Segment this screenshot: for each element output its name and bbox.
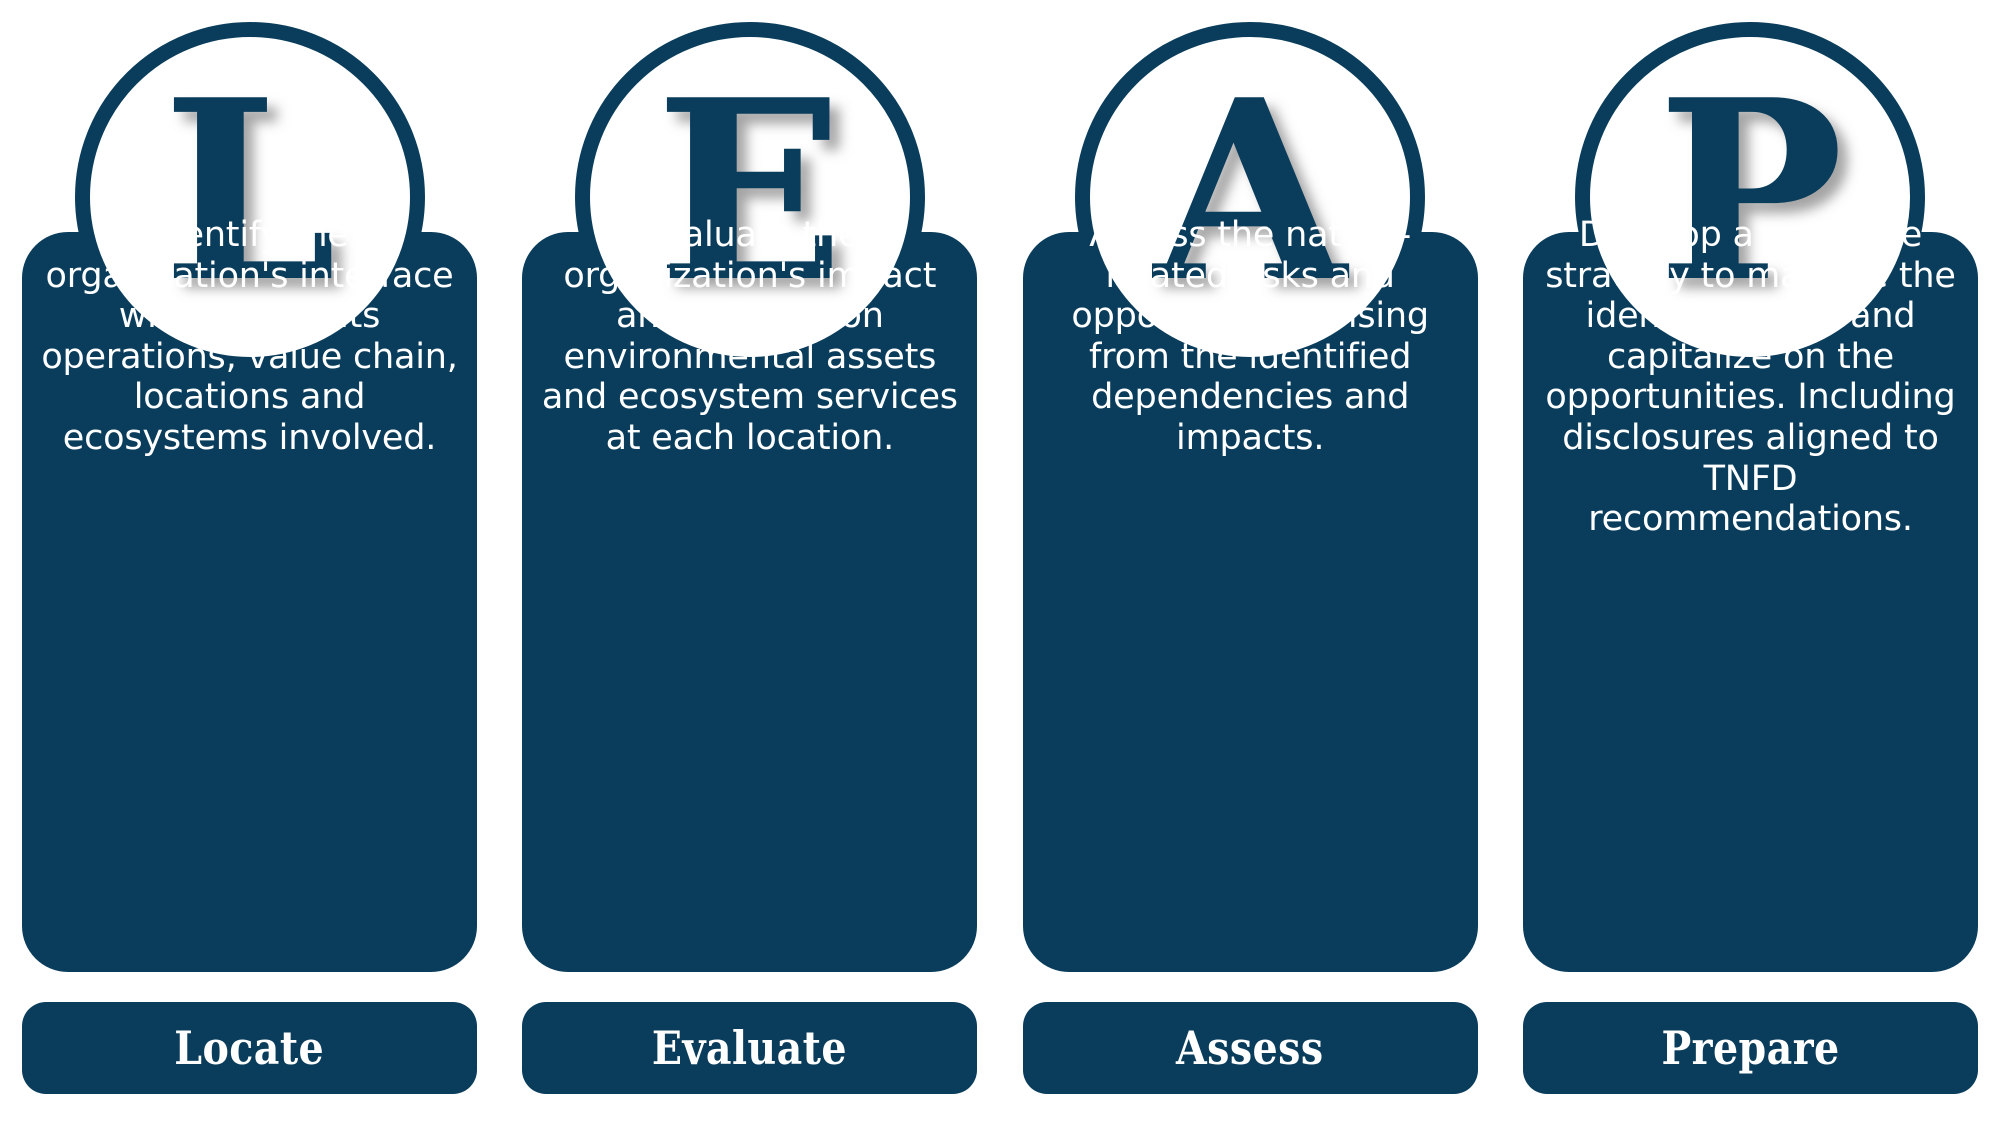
- step-description: Evaluate the organization's impact and r…: [522, 215, 977, 459]
- steps-row: L Identify the organization's interface …: [0, 0, 2000, 1133]
- step-label: Evaluate: [652, 1021, 847, 1075]
- step-label-bar[interactable]: Locate: [22, 1002, 477, 1094]
- step-description: Develop a response strategy to manage th…: [1523, 215, 1978, 540]
- step-label: Assess: [1176, 1021, 1324, 1075]
- step-card-evaluate[interactable]: E Evaluate the organization's impact and…: [522, 0, 977, 1133]
- step-label-bar[interactable]: Evaluate: [522, 1002, 977, 1094]
- step-label-bar[interactable]: Prepare: [1523, 1002, 1978, 1094]
- step-card-prepare[interactable]: P Develop a response strategy to manage …: [1523, 0, 1978, 1133]
- step-description: Identify the organization's interface wi…: [22, 215, 477, 459]
- step-card-locate[interactable]: L Identify the organization's interface …: [22, 0, 477, 1133]
- step-label-bar[interactable]: Assess: [1023, 1002, 1478, 1094]
- step-description: Assess the nature-related risks and oppo…: [1023, 215, 1478, 459]
- step-label: Locate: [175, 1021, 325, 1075]
- leap-framework-infographic: L Identify the organization's interface …: [0, 0, 2000, 1133]
- step-card-assess[interactable]: A Assess the nature-related risks and op…: [1023, 0, 1478, 1133]
- step-label: Prepare: [1661, 1021, 1839, 1075]
